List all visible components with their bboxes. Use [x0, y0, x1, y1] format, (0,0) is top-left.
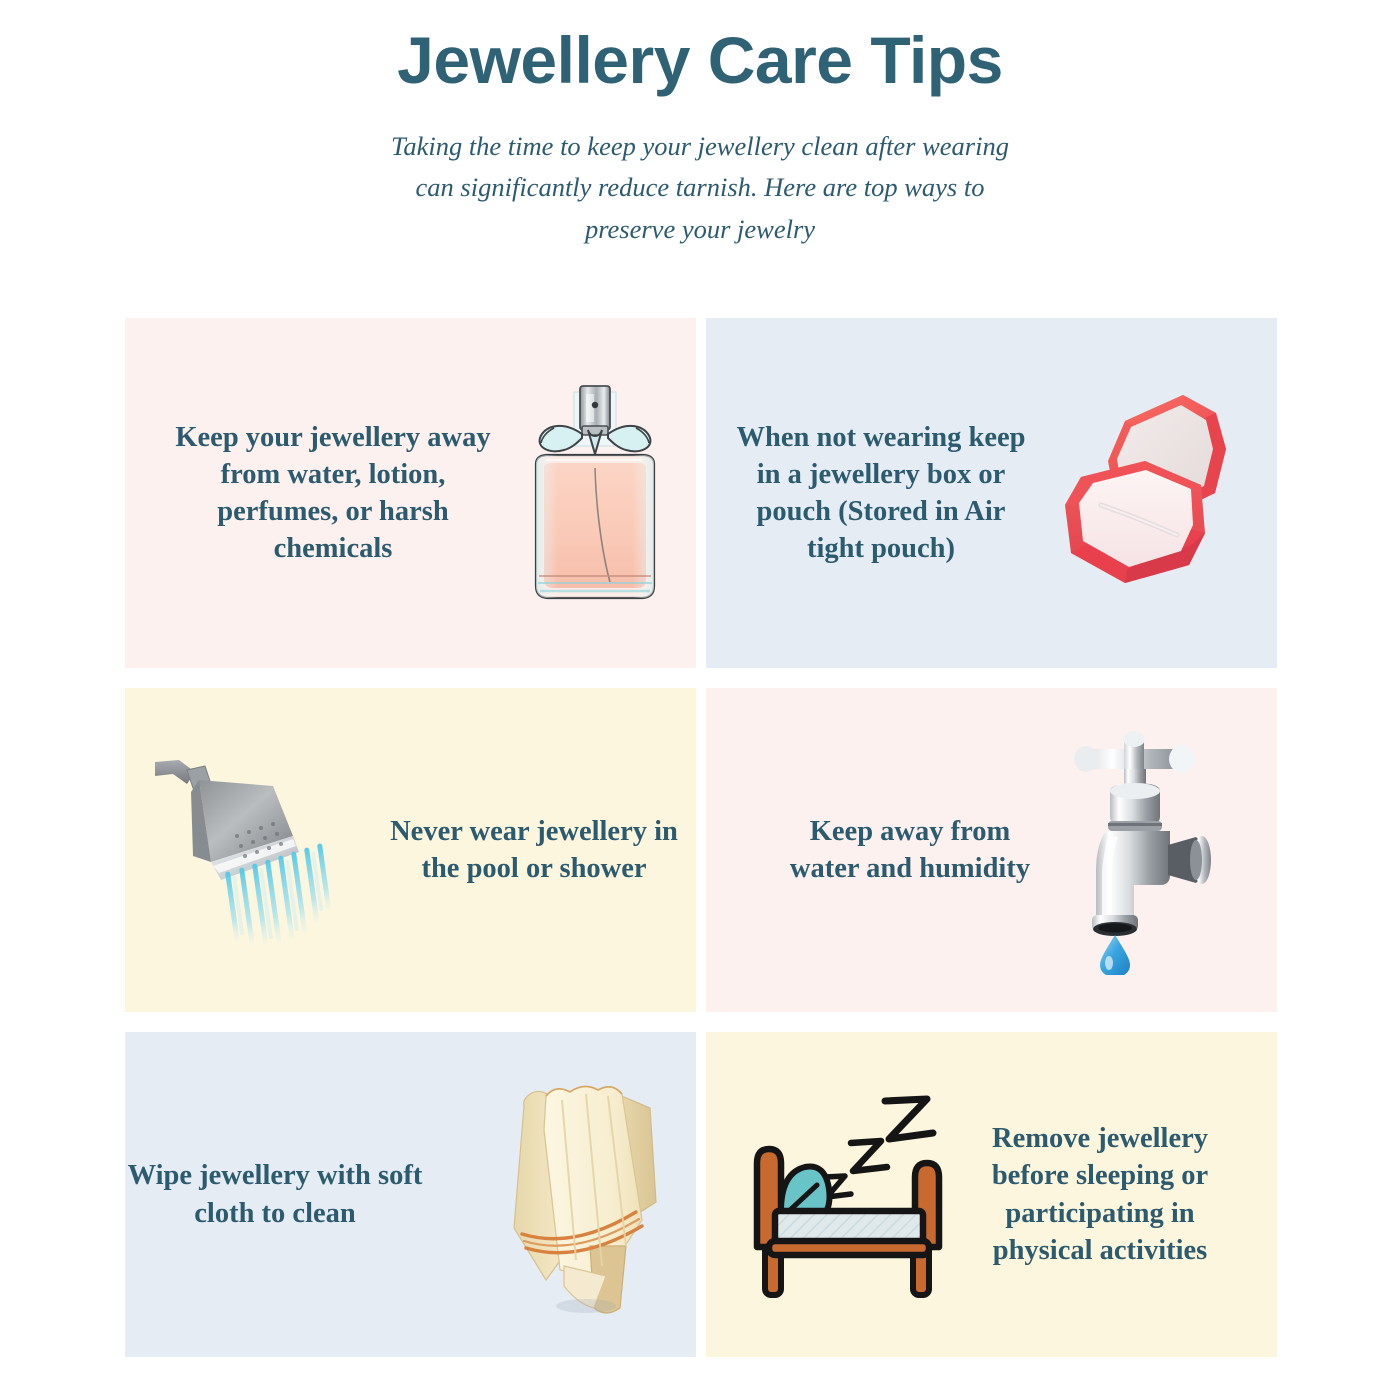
- page-title: Jewellery Care Tips: [0, 0, 1400, 98]
- tip-card-cloth: Wipe jewellery with soft cloth to clean: [125, 1032, 696, 1357]
- bed-sleeping-icon: [726, 1032, 967, 1357]
- page-subtitle: Taking the time to keep your jewellery c…: [380, 126, 1020, 250]
- tip-card-perfume-label: Keep your jewellery away from water, lot…: [163, 419, 503, 567]
- tips-grid: Keep your jewellery away from water, lot…: [125, 318, 1277, 1357]
- tip-card-shower: Never wear jewellery in the pool or show…: [125, 688, 696, 1012]
- ring-box-icon: [1036, 318, 1269, 668]
- tip-card-faucet-label: Keep away from water and humidity: [776, 813, 1044, 887]
- tip-card-jewellery-box-label: When not wearing keep in a jewellery box…: [726, 419, 1036, 567]
- tip-card-perfume: Keep your jewellery away from water, lot…: [125, 318, 696, 668]
- header: Jewellery Care Tips Taking the time to k…: [0, 0, 1400, 250]
- perfume-bottle-icon: [503, 318, 686, 668]
- shower-head-icon: [133, 688, 384, 1012]
- tip-card-bed-label: Remove jewellery before sleeping or part…: [967, 1120, 1233, 1268]
- cleaning-cloth-icon: [471, 1032, 696, 1357]
- tip-card-shower-label: Never wear jewellery in the pool or show…: [384, 813, 684, 887]
- faucet-icon: [1044, 688, 1257, 1012]
- tip-card-faucet: Keep away from water and humidity: [706, 688, 1277, 1012]
- tip-card-cloth-label: Wipe jewellery with soft cloth to clean: [125, 1157, 425, 1231]
- infographic-page: Jewellery Care Tips Taking the time to k…: [0, 0, 1400, 1400]
- tip-card-jewellery-box: When not wearing keep in a jewellery box…: [706, 318, 1277, 668]
- tip-card-bed: Remove jewellery before sleeping or part…: [706, 1032, 1277, 1357]
